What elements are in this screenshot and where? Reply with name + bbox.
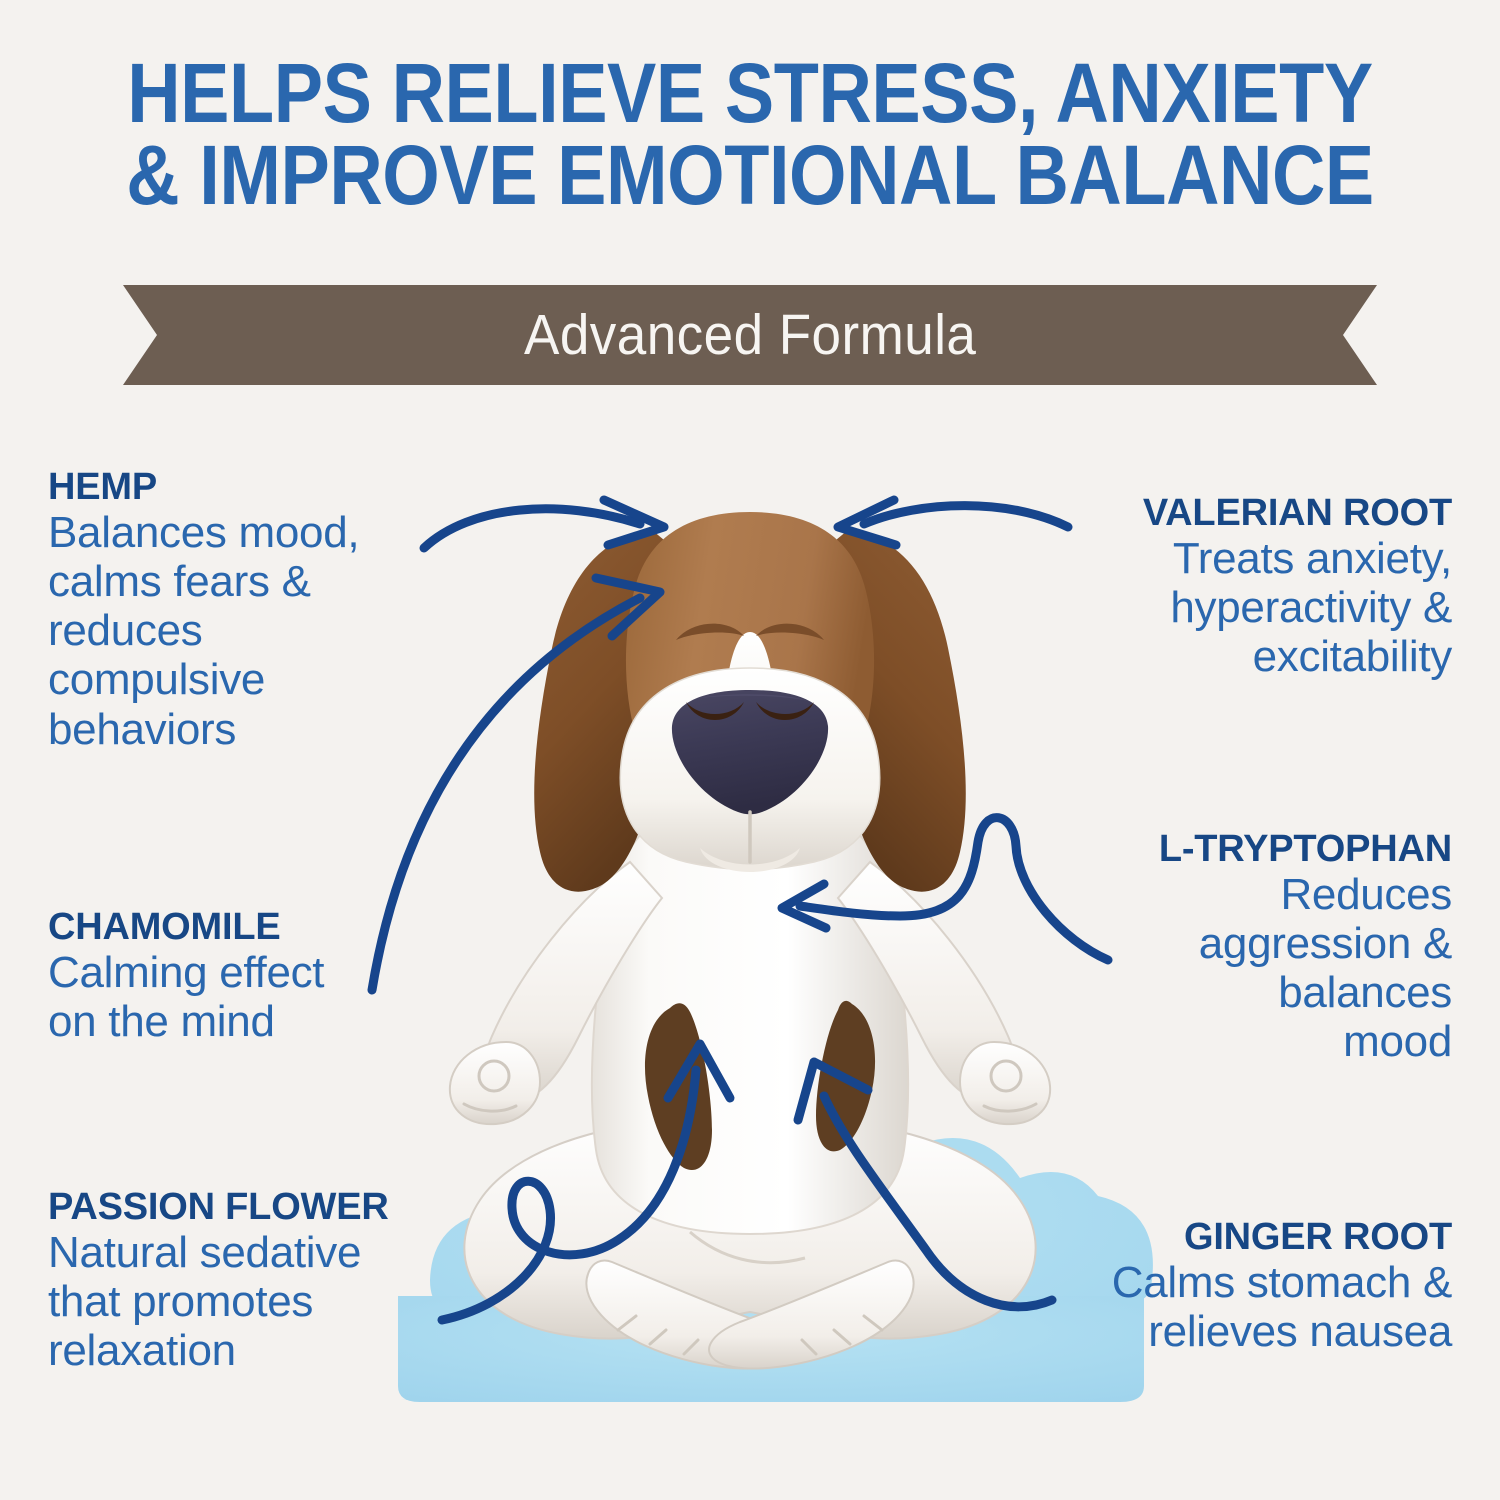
- callout-body-hemp: Balances mood, calms fears & reduces com…: [48, 508, 468, 754]
- callout-line: Natural sedative: [48, 1228, 478, 1277]
- callout-body-ginger-root: Calms stomach & relieves nausea: [1012, 1258, 1452, 1357]
- callout-line: that promotes: [48, 1277, 478, 1326]
- callout-line: Balances mood,: [48, 508, 468, 557]
- callout-title-chamomile: CHAMOMILE: [48, 908, 468, 948]
- callout-line: hyperactivity &: [1032, 583, 1452, 632]
- callout-title-ginger-root: GINGER ROOT: [1012, 1218, 1452, 1258]
- dog-head: [620, 512, 879, 872]
- callout-line: mood: [1052, 1017, 1452, 1066]
- callout-line: Calming effect: [48, 948, 468, 997]
- callout-title-l-tryptophan: L-TRYPTOPHAN: [1052, 830, 1452, 870]
- callout-line: Reduces: [1052, 870, 1452, 919]
- callout-body-l-tryptophan: Reduces aggression & balances mood: [1052, 870, 1452, 1067]
- callout-title-valerian-root: VALERIAN ROOT: [1032, 494, 1452, 534]
- callout-line: aggression &: [1052, 919, 1452, 968]
- callout-body-chamomile: Calming effect on the mind: [48, 948, 468, 1047]
- callout-line: relieves nausea: [1012, 1307, 1452, 1356]
- callout-title-passion-flower: PASSION FLOWER: [48, 1188, 478, 1228]
- callout-line: relaxation: [48, 1326, 478, 1375]
- callout-line: reduces: [48, 606, 468, 655]
- callout-line: balances: [1052, 968, 1452, 1017]
- callout-line: compulsive: [48, 655, 468, 704]
- callout-line: Calms stomach &: [1012, 1258, 1452, 1307]
- callout-line: on the mind: [48, 997, 468, 1046]
- callout-l-tryptophan: L-TRYPTOPHAN Reduces aggression & balanc…: [1052, 830, 1452, 1067]
- callout-line: behaviors: [48, 705, 468, 754]
- callout-line: Treats anxiety,: [1032, 534, 1452, 583]
- callout-valerian-root: VALERIAN ROOT Treats anxiety, hyperactiv…: [1032, 494, 1452, 681]
- callout-line: calms fears &: [48, 557, 468, 606]
- callout-passion-flower: PASSION FLOWER Natural sedative that pro…: [48, 1188, 478, 1375]
- infographic-page: HELPS RELIEVE STRESS, ANXIETY & IMPROVE …: [0, 0, 1500, 1500]
- callout-body-valerian-root: Treats anxiety, hyperactivity & excitabi…: [1032, 534, 1452, 682]
- callout-ginger-root: GINGER ROOT Calms stomach & relieves nau…: [1012, 1218, 1452, 1356]
- callout-chamomile: CHAMOMILE Calming effect on the mind: [48, 908, 468, 1046]
- callout-body-passion-flower: Natural sedative that promotes relaxatio…: [48, 1228, 478, 1376]
- callout-line: excitability: [1032, 632, 1452, 681]
- callout-title-hemp: HEMP: [48, 468, 468, 508]
- callout-hemp: HEMP Balances mood, calms fears & reduce…: [48, 468, 468, 754]
